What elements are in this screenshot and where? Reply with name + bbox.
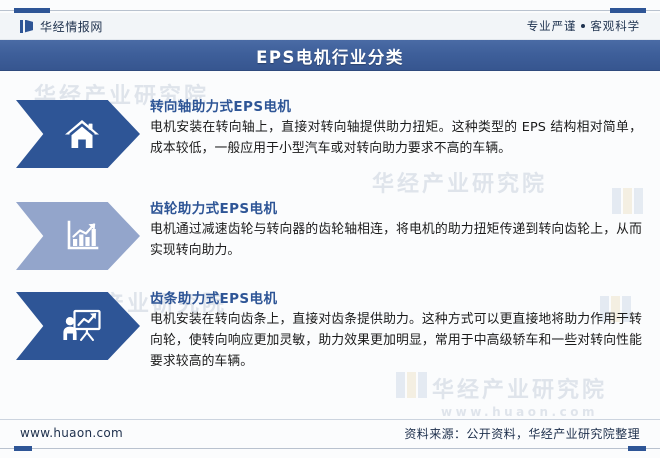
brand: 华经情报网 [20, 18, 103, 35]
infographic-page: 华经情报网 专业严谨 客观科学 EPS电机行业分类 华经产业研究院 华经产业研究… [0, 0, 660, 458]
section-heading: 齿轮助力式EPS电机 [150, 200, 650, 218]
tagline: 专业严谨 客观科学 [527, 18, 640, 34]
footer-source: 资料来源：公开资料，华经产业研究院整理 [404, 425, 640, 442]
section-body: 电机安装在转向齿条上，直接对齿条提供助力。这种方式可以更直接地将助力作用于转向轮… [150, 310, 642, 372]
footer-website[interactable]: www.huaon.com [20, 426, 123, 440]
bottom-rule-cap-left [14, 446, 32, 451]
brand-label: 华经情报网 [40, 18, 103, 35]
bottom-rule-line [0, 448, 660, 449]
tagline-left: 专业严谨 [527, 18, 577, 34]
content-area: 转向轴助力式EPS电机 电机安装在转向轴上，直接对转向轴提供助力扭矩。这种类型的… [0, 78, 660, 414]
section-text: 齿条助力式EPS电机 电机安装在转向齿条上，直接对齿条提供助力。这种方式可以更直… [140, 290, 660, 372]
section-chevron [16, 100, 140, 168]
huaon-logo-icon [20, 20, 33, 33]
page-footer: www.huaon.com 资料来源：公开资料，华经产业研究院整理 [0, 420, 660, 446]
section-row: 转向轴助力式EPS电机 电机安装在转向轴上，直接对转向轴提供助力扭矩。这种类型的… [0, 98, 660, 168]
section-chevron [16, 202, 140, 270]
section-text: 转向轴助力式EPS电机 电机安装在转向轴上，直接对转向轴提供助力扭矩。这种类型的… [140, 98, 660, 160]
bottom-rule [0, 446, 660, 451]
section-body: 电机安装在转向轴上，直接对转向轴提供助力扭矩。这种类型的 EPS 结构相对简单，… [150, 118, 642, 159]
tagline-right: 客观科学 [590, 18, 640, 34]
section-heading: 齿条助力式EPS电机 [150, 290, 650, 308]
bottom-rule-cap-right [628, 446, 646, 451]
bullet-dot-icon [581, 24, 585, 28]
title-banner: EPS电机行业分类 [0, 40, 660, 71]
bar-chart-growth-icon [65, 220, 99, 252]
section-row: 齿轮助力式EPS电机 电机通过减速齿轮与转向器的齿轮轴相连，将电机的助力扭矩传递… [0, 200, 660, 270]
top-rule-line [0, 10, 660, 11]
section-row: 齿条助力式EPS电机 电机安装在转向齿条上，直接对齿条提供助力。这种方式可以更直… [0, 290, 660, 372]
home-icon [64, 117, 100, 151]
section-heading: 转向轴助力式EPS电机 [150, 98, 650, 116]
page-header: 华经情报网 专业严谨 客观科学 [0, 13, 660, 40]
presentation-chart-icon [62, 309, 102, 343]
page-title: EPS电机行业分类 [256, 44, 404, 68]
section-body: 电机通过减速齿轮与转向器的齿轮轴相连，将电机的助力扭矩传递到转向齿轮上，从而实现… [150, 220, 642, 261]
section-text: 齿轮助力式EPS电机 电机通过减速齿轮与转向器的齿轮轴相连，将电机的助力扭矩传递… [140, 200, 660, 262]
section-chevron [16, 292, 140, 360]
